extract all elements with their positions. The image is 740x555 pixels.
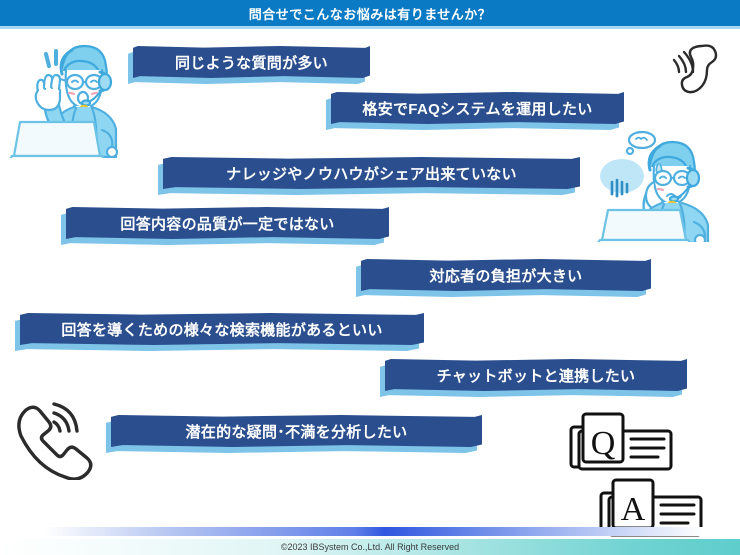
operator-waving-illustration <box>4 30 134 158</box>
concern-banner-1: 同じような質問が多い <box>133 46 370 78</box>
concern-banner-5: 対応者の負担が大きい <box>361 259 651 291</box>
header-underline <box>0 26 740 29</box>
banner-body: 回答を導くための様々な検索機能があるといい <box>20 313 424 345</box>
banner-label: ナレッジやノウハウがシェア出来ていない <box>226 163 517 184</box>
banner-body: 格安でFAQシステムを運用したい <box>331 92 624 124</box>
qa-icon-answer-letter: A <box>621 491 646 528</box>
qa-icon-question-letter: Q <box>591 425 616 462</box>
banner-label: 潜在的な疑問･不満を分析したい <box>185 421 407 442</box>
banner-label: 格安でFAQシステムを運用したい <box>362 98 592 119</box>
banner-label: 対応者の負担が大きい <box>429 265 582 286</box>
concern-banner-3: ナレッジやノウハウがシェア出来ていない <box>163 157 580 189</box>
concern-banner-8: 潜在的な疑問･不満を分析したい <box>111 415 482 447</box>
qa-cards-icon: Q A <box>565 405 725 540</box>
banner-body: 同じような質問が多い <box>133 46 370 78</box>
phone-ringing-icon-bottom <box>10 398 96 480</box>
banner-body: 対応者の負担が大きい <box>361 259 651 291</box>
footer-copyright: ©2023 IBSystem Co.,Ltd. All Right Reserv… <box>0 539 740 555</box>
concern-banner-6: 回答を導くための様々な検索機能があるといい <box>20 313 424 345</box>
phone-ringing-icon-top <box>666 38 728 96</box>
banner-label: チャットボットと連携したい <box>437 365 636 386</box>
concern-banner-2: 格安でFAQシステムを運用したい <box>331 92 624 124</box>
concern-banner-4: 回答内容の品質が一定ではない <box>66 207 389 239</box>
operator-troubled-illustration <box>596 130 736 242</box>
header-bar: 問合せでこんなお悩みは有りませんか？ <box>0 0 740 26</box>
slide-root: 問合せでこんなお悩みは有りませんか？ <box>0 0 740 555</box>
page-title: 問合せでこんなお悩みは有りませんか？ <box>249 4 492 23</box>
footer-gradient-bar <box>0 527 740 536</box>
banner-body: ナレッジやノウハウがシェア出来ていない <box>163 157 580 189</box>
banner-label: 回答を導くための様々な検索機能があるといい <box>61 319 382 340</box>
banner-body: 回答内容の品質が一定ではない <box>66 207 389 239</box>
banner-label: 同じような質問が多い <box>175 52 328 73</box>
banner-body: チャットボットと連携したい <box>385 359 687 391</box>
banner-label: 回答内容の品質が一定ではない <box>120 213 334 234</box>
banner-body: 潜在的な疑問･不満を分析したい <box>111 415 482 447</box>
concern-banner-7: チャットボットと連携したい <box>385 359 687 391</box>
